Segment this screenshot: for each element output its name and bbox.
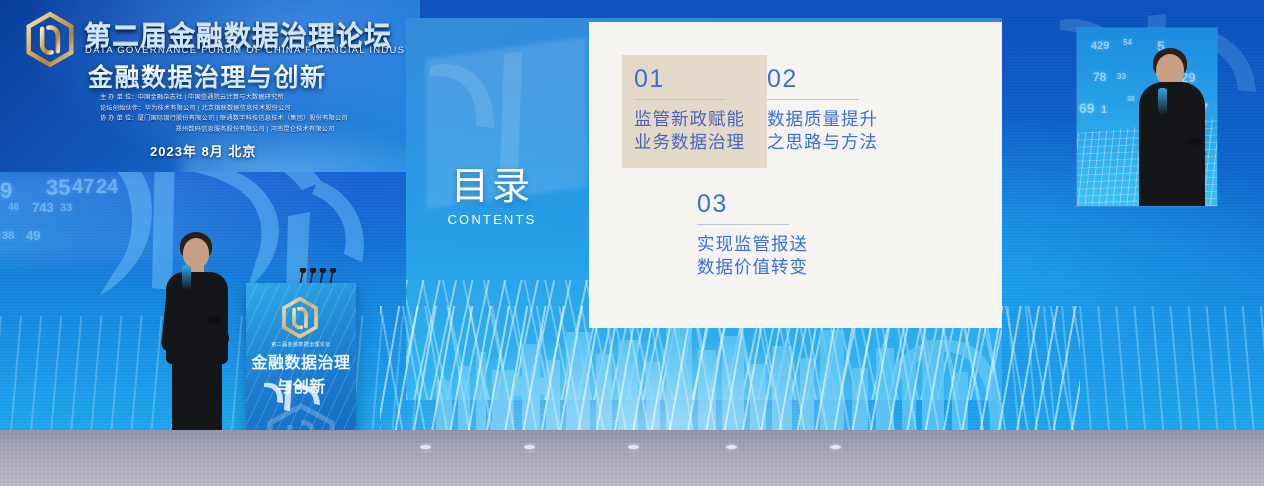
floor-light (726, 445, 737, 449)
floor-light (830, 445, 841, 449)
toc-item-divider (634, 99, 726, 100)
banner-subtitle-english: DATA GOVERNANCE FORUM OF CHINA FINANCIAL… (85, 45, 420, 56)
presenter-clicker-icon (208, 316, 221, 324)
speaker-head (183, 238, 209, 268)
slide-content-card: 01 监管新政赋能 业务数据治理 02 数据质量提升 之思路与方法 03 实现监… (589, 22, 1002, 328)
toc-title-english: CONTENTS (432, 212, 552, 227)
handheld-microphone-icon (1158, 88, 1167, 114)
toc-item-text: 监管新政赋能 业务数据治理 (634, 108, 755, 154)
toc-item-divider (697, 224, 789, 225)
toc-item-text: 数据质量提升 之思路与方法 (767, 108, 917, 154)
floor-light (420, 445, 431, 449)
speaker-on-screen (1129, 48, 1215, 206)
organizer-line: 主 办 单 位：中国金融杂志社 | 中国信通院云计算与大数据研究所 (100, 93, 410, 104)
toc-item-number: 02 (767, 67, 917, 92)
side-display-live-feed: 429 54 5 78 33 29 69 1 38 48 5957 973 (1077, 28, 1217, 206)
slide-toc-heading: 目录 CONTENTS (432, 168, 552, 227)
toc-item-03: 03 实现监管报送 数据价值转变 (697, 192, 847, 279)
toc-title-chinese: 目录 (432, 168, 552, 206)
podium-calligraphy-icon (260, 379, 324, 413)
banner-theme: 金融数据治理与创新 (88, 58, 327, 94)
presenter-clicker-icon (1187, 138, 1201, 145)
toc-item-number: 01 (634, 67, 755, 92)
podium-forum-title: 第二届金融数据治理论坛 (246, 341, 356, 348)
banner-date-location: 2023年 8月 北京 (150, 141, 256, 160)
handheld-microphone-icon (182, 265, 191, 289)
toc-item-divider (767, 99, 859, 100)
organizer-line: 郑州数码信息服务股份有限公司 | 河南昆仑技术有限公司 (100, 125, 410, 136)
toc-item-text: 实现监管报送 数据价值转变 (697, 233, 847, 279)
event-banner: 第二届金融数据治理论坛 DATA GOVERNANCE FORUM OF CHI… (0, 0, 420, 172)
conference-stage-photo: 20 261 22 9 46 42 88 9 35 47 24 46 743 3… (0, 0, 1264, 486)
organizer-credits: 主 办 单 位：中国金融杂志社 | 中国信通院云计算与大数据研究所 论坛创始伙伴… (100, 93, 410, 135)
stage-floor (0, 430, 1264, 486)
organizer-line: 协 办 单 位：厦门国际银行股份有限公司 | 联通数字科技信息技术（集团）股份有… (100, 114, 410, 125)
floor-light (524, 445, 535, 449)
slide-watermark-icon (418, 46, 568, 186)
floor-light (628, 445, 639, 449)
organizer-line: 论坛创始伙伴：华为技术有限公司 | 北京银联数据信息技术股份公司 (100, 104, 410, 115)
toc-item-02: 02 数据质量提升 之思路与方法 (767, 67, 917, 154)
hexagon-logo-icon (22, 12, 78, 68)
toc-item-01: 01 监管新政赋能 业务数据治理 (622, 55, 767, 168)
podium-theme-title: 金融数据治理与创新 (246, 349, 356, 397)
toc-item-number: 03 (697, 192, 847, 217)
hexagon-logo-icon (279, 297, 321, 339)
